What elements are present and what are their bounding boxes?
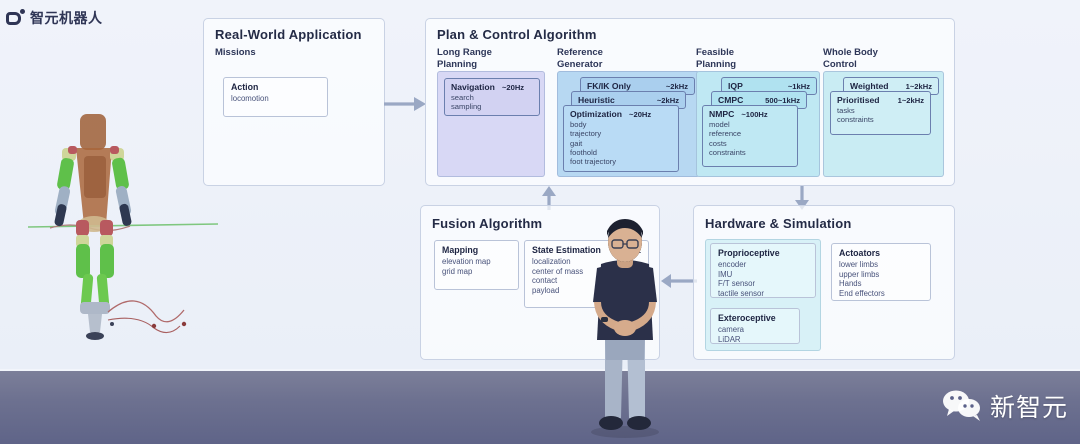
- card-fk-ik-only-hz: ~2kHz: [666, 82, 688, 91]
- brand-logo: 智元机器人: [6, 8, 103, 28]
- real-world-subtitle: Missions: [215, 47, 256, 58]
- card-nmpc-name: NMPC: [709, 109, 734, 119]
- panel-hardware-simulation: Hardware & Simulation Proprioceptive enc…: [693, 205, 955, 360]
- card-nmpc-items: model reference costs constraints: [709, 120, 791, 157]
- card-mapping-name: Mapping: [442, 245, 511, 255]
- stage-floor: [0, 371, 1080, 444]
- card-action-name: Action: [231, 82, 320, 92]
- card-optimization-items: body trajectory gait foothold foot traje…: [570, 120, 672, 166]
- brand-name: 智元机器人: [30, 8, 103, 28]
- hardware-title: Hardware & Simulation: [705, 216, 852, 231]
- card-navigation-name: Navigation: [451, 82, 495, 92]
- panel-plan-control-algorithm: Plan & Control Algorithm Long Range Plan…: [425, 18, 955, 186]
- column-label-long-range-planning: Long Range Planning: [437, 47, 492, 70]
- group-whole-body-control: Weighted 1~2kHz Prioritised 1~2kHz tasks…: [823, 71, 944, 177]
- card-actoators[interactable]: Actoators lower limbs upper limbs Hands …: [831, 243, 931, 301]
- group-feasible-planning: IQP ~1kHz CMPC 500~1kHz NMPC ~100Hz mode…: [696, 71, 820, 177]
- card-mapping-items: elevation map grid map: [442, 257, 511, 276]
- card-action[interactable]: Action locomotion: [223, 77, 328, 117]
- humanoid-robot-figure: [28, 90, 218, 350]
- card-optimization[interactable]: Optimization ~20Hz body trajectory gait …: [563, 105, 679, 172]
- card-proprioceptive[interactable]: Proprioceptive encoder IMU F/T sensor ta…: [710, 243, 816, 298]
- group-long-range-planning: Navigation ~20Hz search sampling: [437, 71, 545, 177]
- fusion-title: Fusion Algorithm: [432, 216, 542, 231]
- card-optimization-name: Optimization: [570, 109, 622, 119]
- card-prioritised-name: Prioritised: [837, 95, 880, 105]
- card-proprioceptive-items: encoder IMU F/T sensor tactile sensor: [718, 260, 808, 298]
- zhiyuan-logo-icon: [6, 9, 24, 27]
- card-exteroceptive[interactable]: Exteroceptive camera LiDAR: [710, 308, 800, 344]
- wechat-icon: [941, 389, 983, 423]
- column-label-feasible-planning: Feasible Planning: [696, 47, 736, 70]
- card-heuristic-hz: ~2kHz: [657, 96, 679, 105]
- card-iqp-hz: ~1kHz: [788, 82, 810, 91]
- card-iqp-name: IQP: [728, 81, 743, 91]
- card-actoators-items: lower limbs upper limbs Hands End effect…: [839, 260, 923, 298]
- card-heuristic-name: Heuristic: [578, 95, 615, 105]
- group-reference-generator: FK/IK Only ~2kHz Heuristic ~2kHz Optimiz…: [557, 71, 700, 177]
- card-optimization-hz: ~20Hz: [629, 110, 651, 119]
- card-weighted-name: Weighted: [850, 81, 889, 91]
- real-world-title: Real-World Application: [215, 27, 362, 42]
- channel-watermark: 新智元: [941, 388, 1068, 424]
- card-cmpc-hz: 500~1kHz: [765, 96, 800, 105]
- panel-real-world-application: Real-World Application Missions Action l…: [203, 18, 385, 186]
- card-exteroceptive-items: camera LiDAR: [718, 325, 792, 344]
- column-label-reference-generator: Reference Generator: [557, 47, 603, 70]
- card-mapping[interactable]: Mapping elevation map grid map: [434, 240, 519, 290]
- card-navigation-hz: ~20Hz: [502, 83, 524, 92]
- card-prioritised[interactable]: Prioritised 1~2kHz tasks constraints: [830, 91, 931, 135]
- card-nmpc-hz: ~100Hz: [741, 110, 767, 119]
- card-fk-ik-only-name: FK/IK Only: [587, 81, 631, 91]
- card-proprioceptive-name: Proprioceptive: [718, 248, 808, 258]
- plan-control-title: Plan & Control Algorithm: [437, 27, 597, 42]
- card-prioritised-items: tasks constraints: [837, 106, 924, 125]
- card-prioritised-hz: 1~2kHz: [898, 96, 924, 105]
- card-cmpc-name: CMPC: [718, 95, 743, 105]
- card-navigation[interactable]: Navigation ~20Hz search sampling: [444, 78, 540, 116]
- card-exteroceptive-name: Exteroceptive: [718, 313, 792, 323]
- card-nmpc[interactable]: NMPC ~100Hz model reference costs constr…: [702, 105, 798, 167]
- column-label-whole-body-control: Whole Body Control: [823, 47, 878, 70]
- card-action-items: locomotion: [231, 94, 320, 104]
- card-navigation-items: search sampling: [451, 93, 533, 112]
- arrow-right-icon-app-to-plan: [384, 94, 426, 114]
- card-weighted-hz: 1~2kHz: [906, 82, 932, 91]
- presentation-screenshot: 智元机器人: [0, 0, 1080, 444]
- presenter-person: [575, 218, 675, 444]
- watermark-text: 新智元: [990, 388, 1068, 424]
- card-actoators-name: Actoators: [839, 248, 923, 258]
